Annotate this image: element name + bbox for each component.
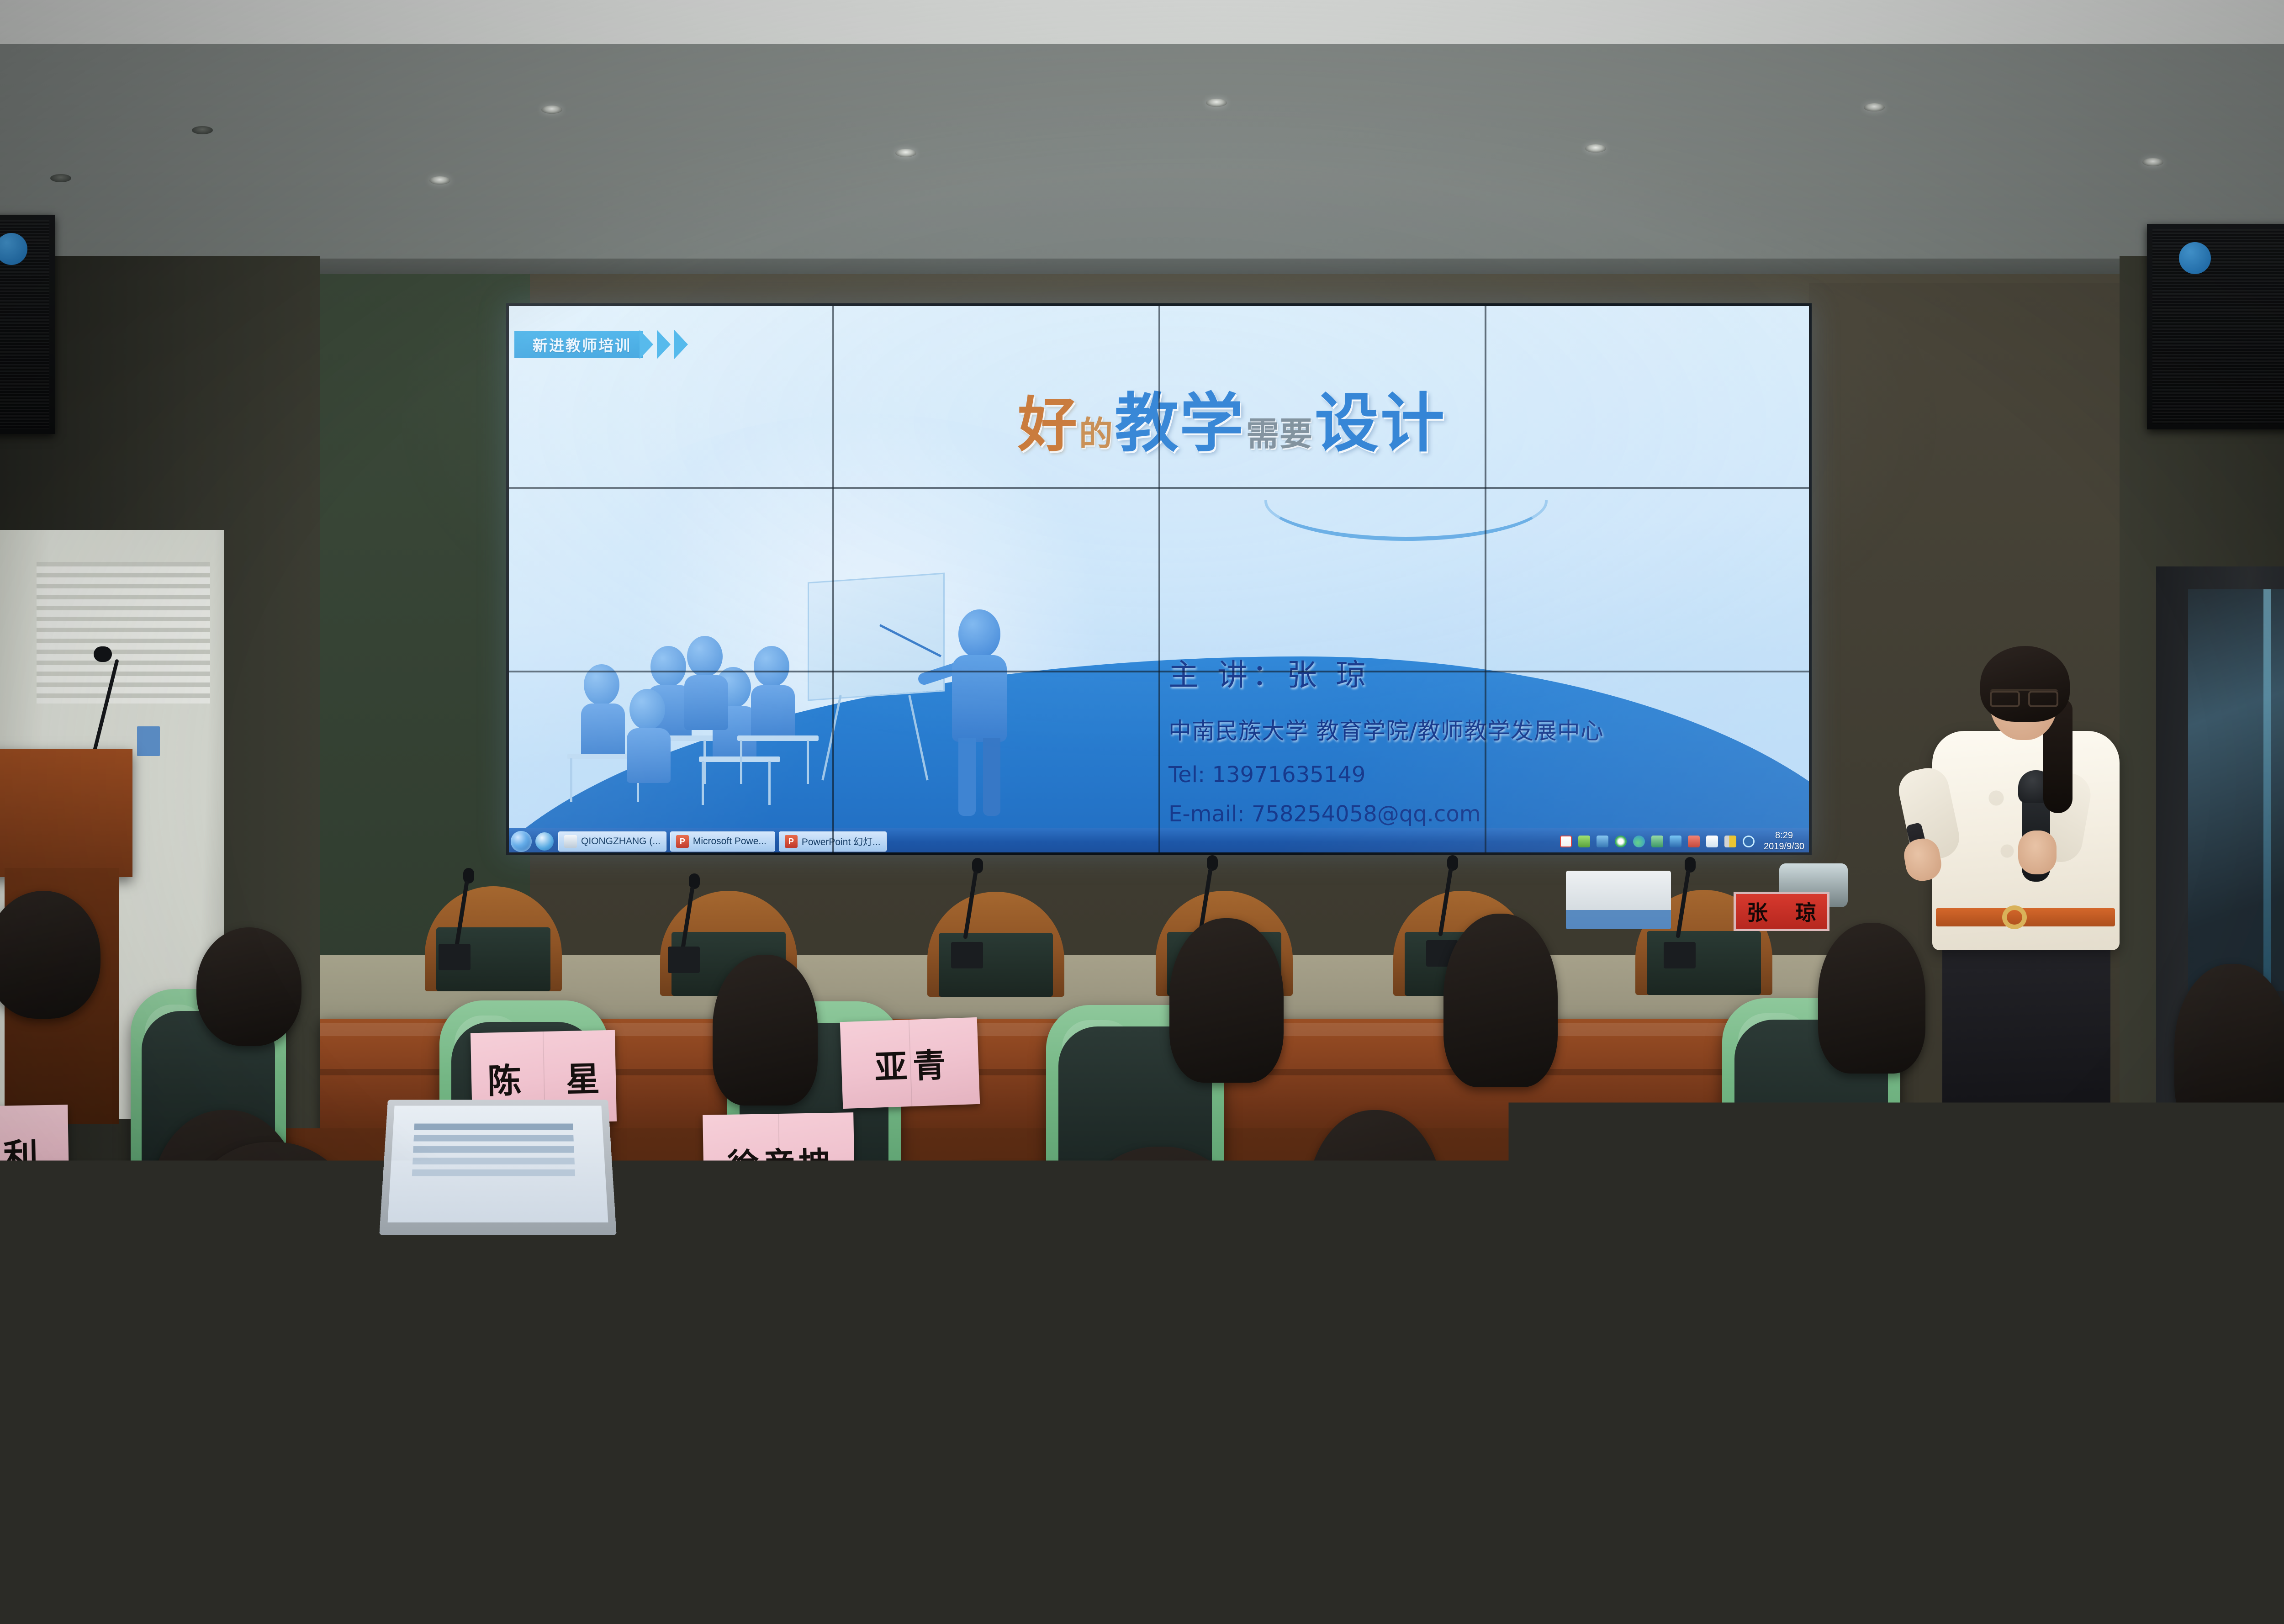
tissue-box-band — [1566, 910, 1671, 929]
audience-head — [1443, 914, 1558, 1087]
presenter-nameplate: 张 琼 — [1734, 892, 1829, 931]
ceiling — [0, 44, 2284, 300]
seat-name-card-label: 利 — [3, 1128, 38, 1179]
downlight-icon — [541, 106, 562, 114]
presenter-right-hand — [2018, 831, 2057, 874]
seat-name-card-label: 朱彦冰 — [581, 1248, 714, 1309]
downlight-icon — [192, 126, 213, 134]
audience-head — [713, 955, 818, 1106]
seat-name-card-label: 姜 宇 — [1698, 1450, 1902, 1514]
podium-microphone-head — [94, 646, 112, 662]
air-conditioner-vent — [37, 562, 210, 704]
speaker-grill — [2152, 229, 2284, 424]
wall-speaker-left — [0, 215, 55, 434]
audience-head — [37, 1453, 256, 1624]
audience-head — [2174, 964, 2284, 1137]
audience-head — [1306, 1110, 1443, 1307]
table-microphone-base — [1664, 942, 1696, 968]
audience-laptop[interactable] — [379, 1100, 616, 1235]
seat-name-card: 苏 娟 — [2173, 1231, 2284, 1349]
audience-head — [1818, 923, 1925, 1074]
video-wall-display[interactable]: 新进教师培训 好 的 教学 需要 设计 — [506, 303, 1812, 855]
table-microphone-base — [668, 947, 700, 973]
downlight-icon — [429, 176, 450, 185]
seat-name-card: 徐彦坤 — [703, 1112, 855, 1211]
seat-name-card-label: 肖华明 — [280, 1449, 414, 1512]
seat-name-card: 谢 超 — [995, 1415, 1188, 1540]
air-conditioner-label — [137, 726, 160, 756]
podium — [0, 749, 132, 877]
audience-head — [1060, 1147, 1261, 1402]
downlight-icon — [1585, 144, 1606, 153]
seat-name-card: 王修力 — [1612, 1232, 1778, 1339]
presenter-nameplate-label: 张 琼 — [1737, 896, 1826, 926]
downlight-icon — [895, 149, 916, 157]
presenter-belt-buckle-icon — [2002, 905, 2027, 929]
glasses-icon — [1990, 689, 2058, 703]
ceiling-slab — [0, 44, 2284, 259]
table-microphone-base — [439, 944, 471, 970]
equipment-rack-light-strip — [2263, 589, 2271, 991]
table-microphone-base — [951, 942, 983, 968]
audience-head — [1169, 918, 1284, 1083]
seat-name-card-label: 王修力 — [1630, 1256, 1760, 1315]
seat-name-card: 亚青 — [840, 1017, 980, 1109]
downlight-icon — [50, 174, 71, 182]
seat-name-card-label: 苏 娟 — [2169, 1260, 2284, 1322]
audience-head — [196, 927, 301, 1046]
presenter-hair — [1980, 646, 2070, 722]
video-wall-bezel — [506, 303, 1812, 855]
speaker-badge-icon — [2179, 242, 2211, 274]
seat-name-card: 姜 宇 — [1703, 1420, 1896, 1545]
laptop-screen — [388, 1106, 608, 1222]
presenter-skirt — [1942, 926, 2110, 1117]
downlight-icon — [1206, 99, 1227, 107]
lecture-hall-photo: 新进教师培训 好 的 教学 需要 设计 — [0, 0, 2284, 1624]
downlight-icon — [2142, 158, 2163, 166]
audience-head — [174, 1142, 370, 1380]
wall-speaker-right — [2147, 224, 2284, 429]
seat-name-card: 朱彦冰 — [561, 1221, 733, 1335]
tissue-box — [1566, 871, 1671, 929]
downlight-icon — [1864, 103, 1885, 111]
seat-name-card: 肖华明 — [255, 1419, 439, 1541]
